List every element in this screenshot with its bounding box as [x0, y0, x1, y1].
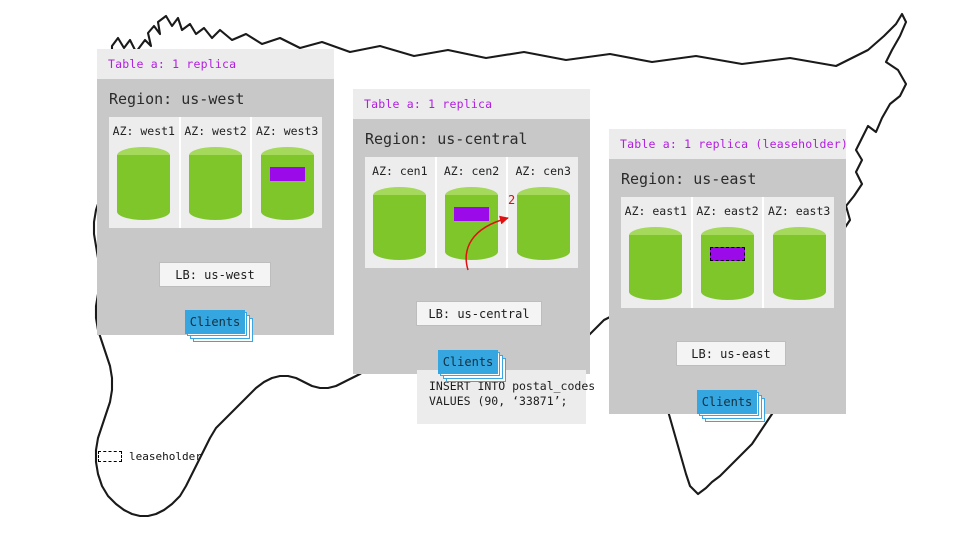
legend-leaseholder: leaseholder — [98, 450, 202, 463]
az-label-west3: AZ: west3 — [256, 124, 318, 138]
load-balancer-us-west[interactable]: LB: us-west — [159, 262, 271, 287]
az-row-us-east: AZ: east1 AZ: east2 — [621, 197, 834, 308]
table-replica-label-us-west: Table a: 1 replica — [97, 49, 334, 79]
az-label-west2: AZ: west2 — [184, 124, 246, 138]
clients-label-us-east[interactable]: Clients — [697, 390, 757, 414]
node-cylinder-cen1[interactable] — [373, 187, 426, 260]
cylinder-body-icon — [517, 195, 570, 252]
region-title-us-west: Region: us-west — [97, 79, 334, 117]
region-panel-us-east: Region: us-east AZ: east1 AZ: east2 — [609, 159, 846, 414]
node-cylinder-east3[interactable] — [773, 227, 826, 300]
clients-label-us-central[interactable]: Clients — [438, 350, 498, 374]
replica-range-cen2 — [454, 207, 489, 221]
az-cen1[interactable]: AZ: cen1 — [365, 157, 437, 268]
az-row-us-west: AZ: west1 AZ: west2 AZ — [109, 117, 322, 228]
table-replica-label-us-east: Table a: 1 replica (leaseholder) — [609, 129, 846, 159]
leaseholder-range-east2 — [710, 247, 745, 261]
table-replica-label-us-central: Table a: 1 replica — [353, 89, 590, 119]
node-cylinder-east2[interactable] — [701, 227, 754, 300]
az-label-cen2: AZ: cen2 — [444, 164, 499, 178]
load-balancer-us-central[interactable]: LB: us-central — [416, 301, 542, 326]
load-balancer-us-east[interactable]: LB: us-east — [676, 341, 786, 366]
az-west1[interactable]: AZ: west1 — [109, 117, 181, 228]
az-cen2[interactable]: AZ: cen2 — [437, 157, 509, 268]
node-cylinder-west1[interactable] — [117, 147, 170, 220]
az-west2[interactable]: AZ: west2 — [181, 117, 253, 228]
cylinder-body-icon — [701, 235, 754, 292]
node-cylinder-east1[interactable] — [629, 227, 682, 300]
clients-stack-us-central[interactable]: Clients — [438, 350, 506, 382]
region-us-central: Table a: 1 replica Region: us-central AZ… — [353, 89, 590, 374]
node-cylinder-cen2[interactable] — [445, 187, 498, 260]
az-label-west1: AZ: west1 — [113, 124, 175, 138]
clients-stack-us-east[interactable]: Clients — [697, 390, 765, 422]
cylinder-body-icon — [261, 155, 314, 212]
arrow-step-label-2: 2 — [508, 193, 515, 207]
node-cylinder-west2[interactable] — [189, 147, 242, 220]
az-label-cen3: AZ: cen3 — [515, 164, 570, 178]
cylinder-body-icon — [189, 155, 242, 212]
az-east1[interactable]: AZ: east1 — [621, 197, 693, 308]
region-panel-us-central: Region: us-central AZ: cen1 AZ: cen2 — [353, 119, 590, 374]
az-label-east2: AZ: east2 — [696, 204, 758, 218]
region-us-west: Table a: 1 replica Region: us-west AZ: w… — [97, 49, 334, 335]
az-west3[interactable]: AZ: west3 — [252, 117, 322, 228]
region-title-us-east: Region: us-east — [609, 159, 846, 197]
region-title-us-central: Region: us-central — [353, 119, 590, 157]
cylinder-body-icon — [117, 155, 170, 212]
node-cylinder-west3[interactable] — [261, 147, 314, 220]
cylinder-body-icon — [629, 235, 682, 292]
az-east2[interactable]: AZ: east2 — [693, 197, 765, 308]
az-label-east3: AZ: east3 — [768, 204, 830, 218]
cylinder-body-icon — [373, 195, 426, 252]
legend-label: leaseholder — [129, 450, 202, 463]
clients-label-us-west[interactable]: Clients — [185, 310, 245, 334]
region-panel-us-west: Region: us-west AZ: west1 AZ: west2 — [97, 79, 334, 335]
replica-range-west3 — [270, 167, 305, 181]
az-label-east1: AZ: east1 — [625, 204, 687, 218]
cylinder-body-icon — [773, 235, 826, 292]
az-cen3[interactable]: AZ: cen3 — [508, 157, 578, 268]
region-us-east: Table a: 1 replica (leaseholder) Region:… — [609, 129, 846, 414]
az-east3[interactable]: AZ: east3 — [764, 197, 834, 308]
diagram-canvas: Table a: 1 replica Region: us-west AZ: w… — [0, 0, 960, 540]
leaseholder-swatch-icon — [98, 451, 122, 462]
node-cylinder-cen3[interactable] — [517, 187, 570, 260]
az-row-us-central: AZ: cen1 AZ: cen2 — [365, 157, 578, 268]
clients-stack-us-west[interactable]: Clients — [185, 310, 253, 342]
cylinder-body-icon — [445, 195, 498, 252]
az-label-cen1: AZ: cen1 — [372, 164, 427, 178]
